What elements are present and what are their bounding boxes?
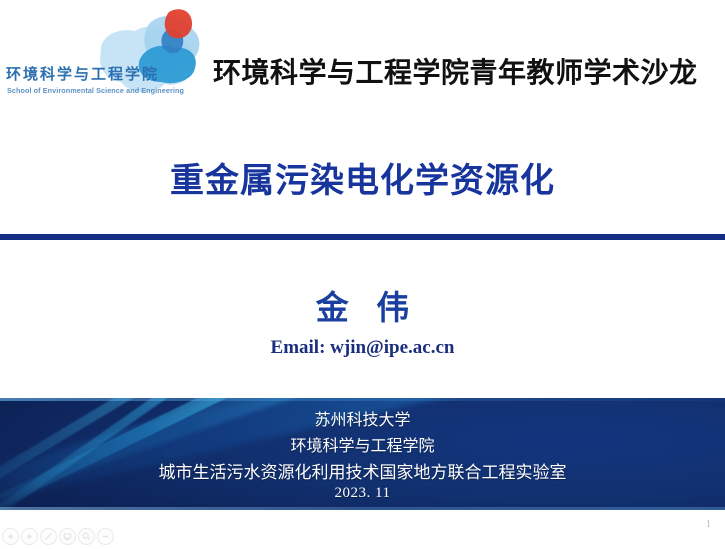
header-title: 环境科学与工程学院青年教师学术沙龙 (213, 51, 698, 91)
triangle-left-icon (6, 532, 15, 541)
footer-band: 苏州科技大学 环境科学与工程学院 城市生活污水资源化利用技术国家地方联合工程实验… (0, 398, 725, 510)
zoom-out-button[interactable] (97, 528, 114, 545)
minus-circle-icon (100, 531, 111, 542)
speaker-name: 金 伟 (0, 281, 725, 329)
presentation-slide: 环境科学与工程学院 School of Environmental Scienc… (0, 0, 725, 549)
footer-line-date: 2023. 11 (335, 485, 391, 502)
zoom-button[interactable] (78, 528, 95, 545)
previous-slide-button[interactable] (2, 528, 19, 545)
speaker-email: Email: wjin@ipe.ac.cn (0, 337, 725, 359)
next-slide-button[interactable] (21, 528, 38, 545)
footer-line-laboratory: 城市生活污水资源化利用技术国家地方联合工程实验室 (159, 458, 567, 483)
pen-slash-icon (43, 531, 54, 542)
logo-english-name: School of Environmental Science and Engi… (7, 86, 184, 95)
footer-text-block: 苏州科技大学 环境科学与工程学院 城市生活污水资源化利用技术国家地方联合工程实验… (0, 398, 725, 510)
pen-tool-button[interactable] (40, 528, 57, 545)
college-logo: 环境科学与工程学院 School of Environmental Scienc… (0, 4, 200, 109)
footer-line-university: 苏州科技大学 (314, 406, 410, 430)
page-number: 1 (706, 519, 711, 530)
page-title: 重金属污染电化学资源化 (0, 153, 725, 202)
triangle-right-icon (25, 532, 34, 541)
presentation-view-button[interactable] (59, 528, 76, 545)
screen-icon (62, 531, 73, 542)
slideshow-toolbar (2, 528, 114, 545)
magnifier-icon (81, 531, 92, 542)
divider (0, 234, 725, 240)
logo-chinese-name: 环境科学与工程学院 (6, 63, 159, 84)
footer-line-college: 环境科学与工程学院 (290, 432, 434, 456)
